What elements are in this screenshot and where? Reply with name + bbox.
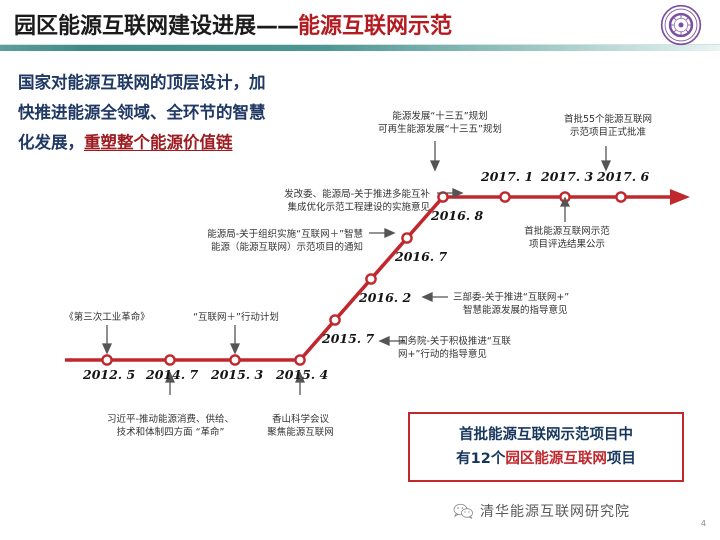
intro-paragraph: 国家对能源互联网的顶层设计，加 快推进能源全领域、全环节的智慧 化发展，重塑整个…: [18, 68, 358, 158]
page-title-dash: ——: [256, 14, 298, 39]
timeline-node-2015-3[interactable]: [230, 355, 239, 364]
callout-box: 首批能源互联网示范项目中 有12个园区能源互联网项目: [408, 412, 684, 482]
annotation-2017-1: 能源发展“十三五”规划 可再生能源发展“十三五”规划: [355, 110, 525, 136]
annotation-2014-7-line-2: 技术和体制四方面 “革命”: [78, 426, 263, 439]
leader-arrow-2012-5-icon: [103, 344, 111, 353]
footer-text: 清华能源互联网研究院: [480, 501, 630, 521]
intro-line-2: 快推进能源全领域、全环节的智慧: [18, 98, 358, 128]
date-label-2015-4: 2015. 4: [276, 367, 328, 382]
annotation-2014-7: 习近平-推动能源消费、供给、 技术和体制四方面 “革命”: [78, 413, 263, 439]
annotation-2017-6-line-1: 首批55个能源互联网: [538, 113, 678, 126]
page-title-highlight: 能源互联网示范: [298, 14, 452, 39]
leader-arrow-2017-3-icon: [561, 198, 569, 206]
intro-line-3-prefix: 化发展，: [18, 133, 84, 152]
intro-line-3-emphasis: 重塑整个能源价值链: [84, 133, 233, 152]
slide-header: 园区能源互联网建设进展——能源互联网示范: [0, 0, 720, 52]
annotation-2017-1-line-2: 可再生能源发展“十三五”规划: [355, 123, 525, 136]
intro-line-3: 化发展，重塑整个能源价值链: [18, 128, 358, 158]
callout-line-1: 首批能源互联网示范项目中: [459, 423, 633, 447]
footer-branding: 清华能源互联网研究院: [452, 498, 692, 524]
timeline-node-2016-8[interactable]: [438, 192, 447, 201]
leader-arrow-2015-7-icon: [380, 337, 389, 345]
annotation-2017-3-line-1: 首批能源互联网示范: [508, 225, 626, 238]
annotation-2015-4: 香山科学会议 聚焦能源互联网: [249, 413, 352, 439]
timeline-node-2016-2[interactable]: [366, 274, 375, 283]
slide-root: 园区能源互联网建设进展——能源互联网示范 国家对能源互联网的顶层设计，加 快推进: [0, 0, 720, 540]
date-label-2016-7: 2016. 7: [395, 249, 447, 264]
date-label-2016-2: 2016. 2: [359, 290, 411, 305]
annotation-2012-5: 《第三次工业革命》: [47, 311, 167, 324]
callout-line-2-suffix: 项目: [607, 451, 636, 467]
date-label-2015-3: 2015. 3: [211, 367, 263, 382]
annotation-2015-4-line-2: 聚焦能源互联网: [249, 426, 352, 439]
annotation-2016-8-line-1: 发改委、能源局-关于推进多能互补: [235, 188, 430, 201]
annotation-2012-5-line-1: 《第三次工业革命》: [47, 311, 167, 324]
wechat-logo-icon: [452, 502, 474, 520]
timeline-node-2017-1[interactable]: [500, 192, 509, 201]
date-label-2016-8: 2016. 8: [431, 208, 483, 223]
leader-arrow-2016-8-icon: [453, 189, 462, 197]
annotation-2016-7-line-2: 能源（能源互联网）示范项目的通知: [163, 241, 363, 254]
header-divider: [0, 44, 720, 51]
page-title-main: 园区能源互联网建设进展: [14, 14, 256, 39]
leader-arrow-2016-2-icon: [423, 293, 432, 301]
annotation-2017-3: 首批能源互联网示范 项目评选结果公示: [508, 225, 626, 251]
annotation-2016-2: 三部委-关于推进“互联网+” 智慧能源发展的指导意见: [453, 291, 633, 317]
timeline-node-2014-7[interactable]: [165, 355, 174, 364]
annotation-2017-6: 首批55个能源互联网 示范项目正式批准: [538, 113, 678, 139]
date-label-2012-5: 2012. 5: [83, 367, 135, 382]
annotation-2017-1-line-1: 能源发展“十三五”规划: [355, 110, 525, 123]
annotation-2016-7: 能源局-关于组织实施“互联网＋”智慧 能源（能源互联网）示范项目的通知: [163, 228, 363, 254]
date-label-2017-6: 2017. 6: [597, 169, 649, 184]
page-number: 4: [701, 519, 706, 528]
leader-arrow-2016-7-icon: [385, 229, 394, 237]
timeline-node-2015-4[interactable]: [295, 355, 304, 364]
callout-line-2-highlight: 园区能源互联网: [505, 451, 607, 467]
annotation-2016-8-line-2: 集成优化示范工程建设的实施意见: [235, 201, 430, 214]
timeline-arrowhead-icon: [670, 189, 690, 205]
intro-line-1: 国家对能源互联网的顶层设计，加: [18, 68, 358, 98]
timeline-node-2017-3[interactable]: [560, 192, 569, 201]
date-label-2015-7: 2015. 7: [322, 331, 374, 346]
annotation-2015-4-line-1: 香山科学会议: [249, 413, 352, 426]
annotation-2016-8: 发改委、能源局-关于推进多能互补 集成优化示范工程建设的实施意见: [235, 188, 430, 214]
annotation-2015-3-line-1: “互联网＋”行动计划: [176, 311, 296, 324]
callout-line-2-prefix: 有12个: [456, 451, 505, 467]
tsinghua-university-seal-icon: [660, 4, 702, 46]
leader-arrow-2015-3-icon: [231, 344, 239, 353]
leader-arrow-2017-1-icon: [431, 161, 439, 170]
date-label-2017-3: 2017. 3: [541, 169, 593, 184]
callout-line-2: 有12个园区能源互联网项目: [456, 447, 636, 471]
timeline-node-2016-7[interactable]: [402, 233, 411, 242]
annotation-2015-3: “互联网＋”行动计划: [176, 311, 296, 324]
annotation-2016-2-line-1: 三部委-关于推进“互联网+”: [453, 291, 633, 304]
date-label-2017-1: 2017. 1: [481, 169, 533, 184]
date-label-2014-7: 2014. 7: [146, 367, 198, 382]
annotation-2015-7: 国务院-关于积极推进“互联 网+”行动的指导意见: [398, 335, 573, 361]
annotation-2015-7-line-2: 网+”行动的指导意见: [398, 348, 573, 361]
timeline-node-2012-5[interactable]: [102, 355, 111, 364]
annotation-2014-7-line-1: 习近平-推动能源消费、供给、: [78, 413, 263, 426]
annotation-2015-7-line-1: 国务院-关于积极推进“互联: [398, 335, 573, 348]
annotation-2016-7-line-1: 能源局-关于组织实施“互联网＋”智慧: [163, 228, 363, 241]
page-title: 园区能源互联网建设进展——能源互联网示范: [14, 8, 452, 40]
annotation-2017-6-line-2: 示范项目正式批准: [538, 126, 678, 139]
timeline-node-2017-6[interactable]: [616, 192, 625, 201]
annotation-2016-2-line-2: 智慧能源发展的指导意见: [453, 304, 633, 317]
timeline-node-2015-7[interactable]: [330, 315, 339, 324]
annotation-2017-3-line-2: 项目评选结果公示: [508, 238, 626, 251]
